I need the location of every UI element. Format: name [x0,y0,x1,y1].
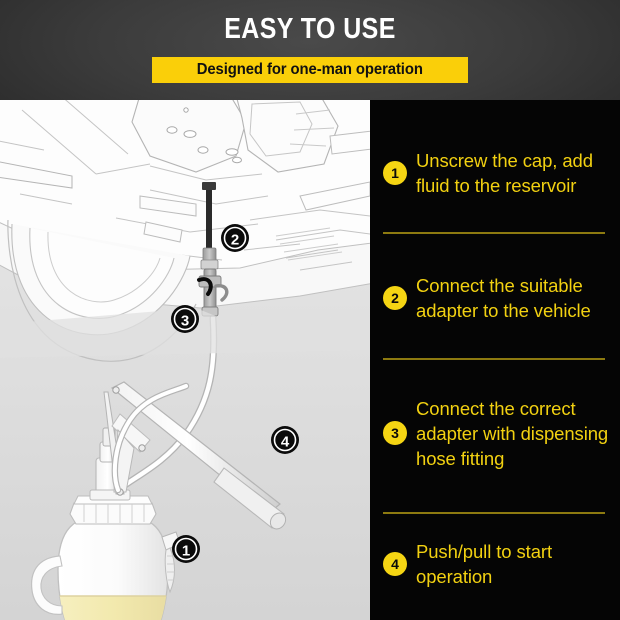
product-feature-infographic: EASY TO USE Designed for one-man operati… [0,0,620,620]
step-text-2: Connect the suitable adapter to the vehi… [416,273,614,323]
step-text-4: Push/pull to start operation [416,539,614,589]
step-divider-3 [383,512,605,514]
illustration-panel: 2 3 1 4 [0,100,370,620]
steps-panel: 1 Unscrew the cap, add fluid to the rese… [370,100,620,620]
svg-text:3: 3 [181,313,189,330]
svg-text:1: 1 [182,543,190,560]
step-item-2[interactable]: 2 Connect the suitable adapter to the ve… [370,255,620,341]
step-badge-1: 1 [383,161,407,185]
step-item-3[interactable]: 3 Connect the correct adapter with dispe… [370,378,620,488]
step-text-1: Unscrew the cap, add fluid to the reserv… [416,148,614,198]
step-item-1[interactable]: 1 Unscrew the cap, add fluid to the rese… [370,130,620,216]
step-item-4[interactable]: 4 Push/pull to start operation [370,533,620,595]
illustration-drawing: 2 3 1 4 [0,100,370,620]
subtitle-banner: Designed for one-man operation [152,57,468,83]
subtitle-banner-text: Designed for one-man operation [197,61,423,79]
step-text-3: Connect the correct adapter with dispens… [416,396,614,471]
callout-marker-1: 1 [172,535,200,563]
header-band: EASY TO USE Designed for one-man operati… [0,0,620,100]
callout-marker-2: 2 [221,224,249,252]
page-title: EASY TO USE [43,14,576,44]
callout-marker-4: 4 [271,426,299,454]
step-badge-3: 3 [383,421,407,445]
fluid-level [50,596,180,620]
step-divider-2 [383,358,605,360]
step-badge-4: 4 [383,552,407,576]
svg-text:2: 2 [231,232,239,249]
step-badge-2: 2 [383,286,407,310]
step-divider-1 [383,232,605,234]
svg-text:4: 4 [281,434,290,451]
